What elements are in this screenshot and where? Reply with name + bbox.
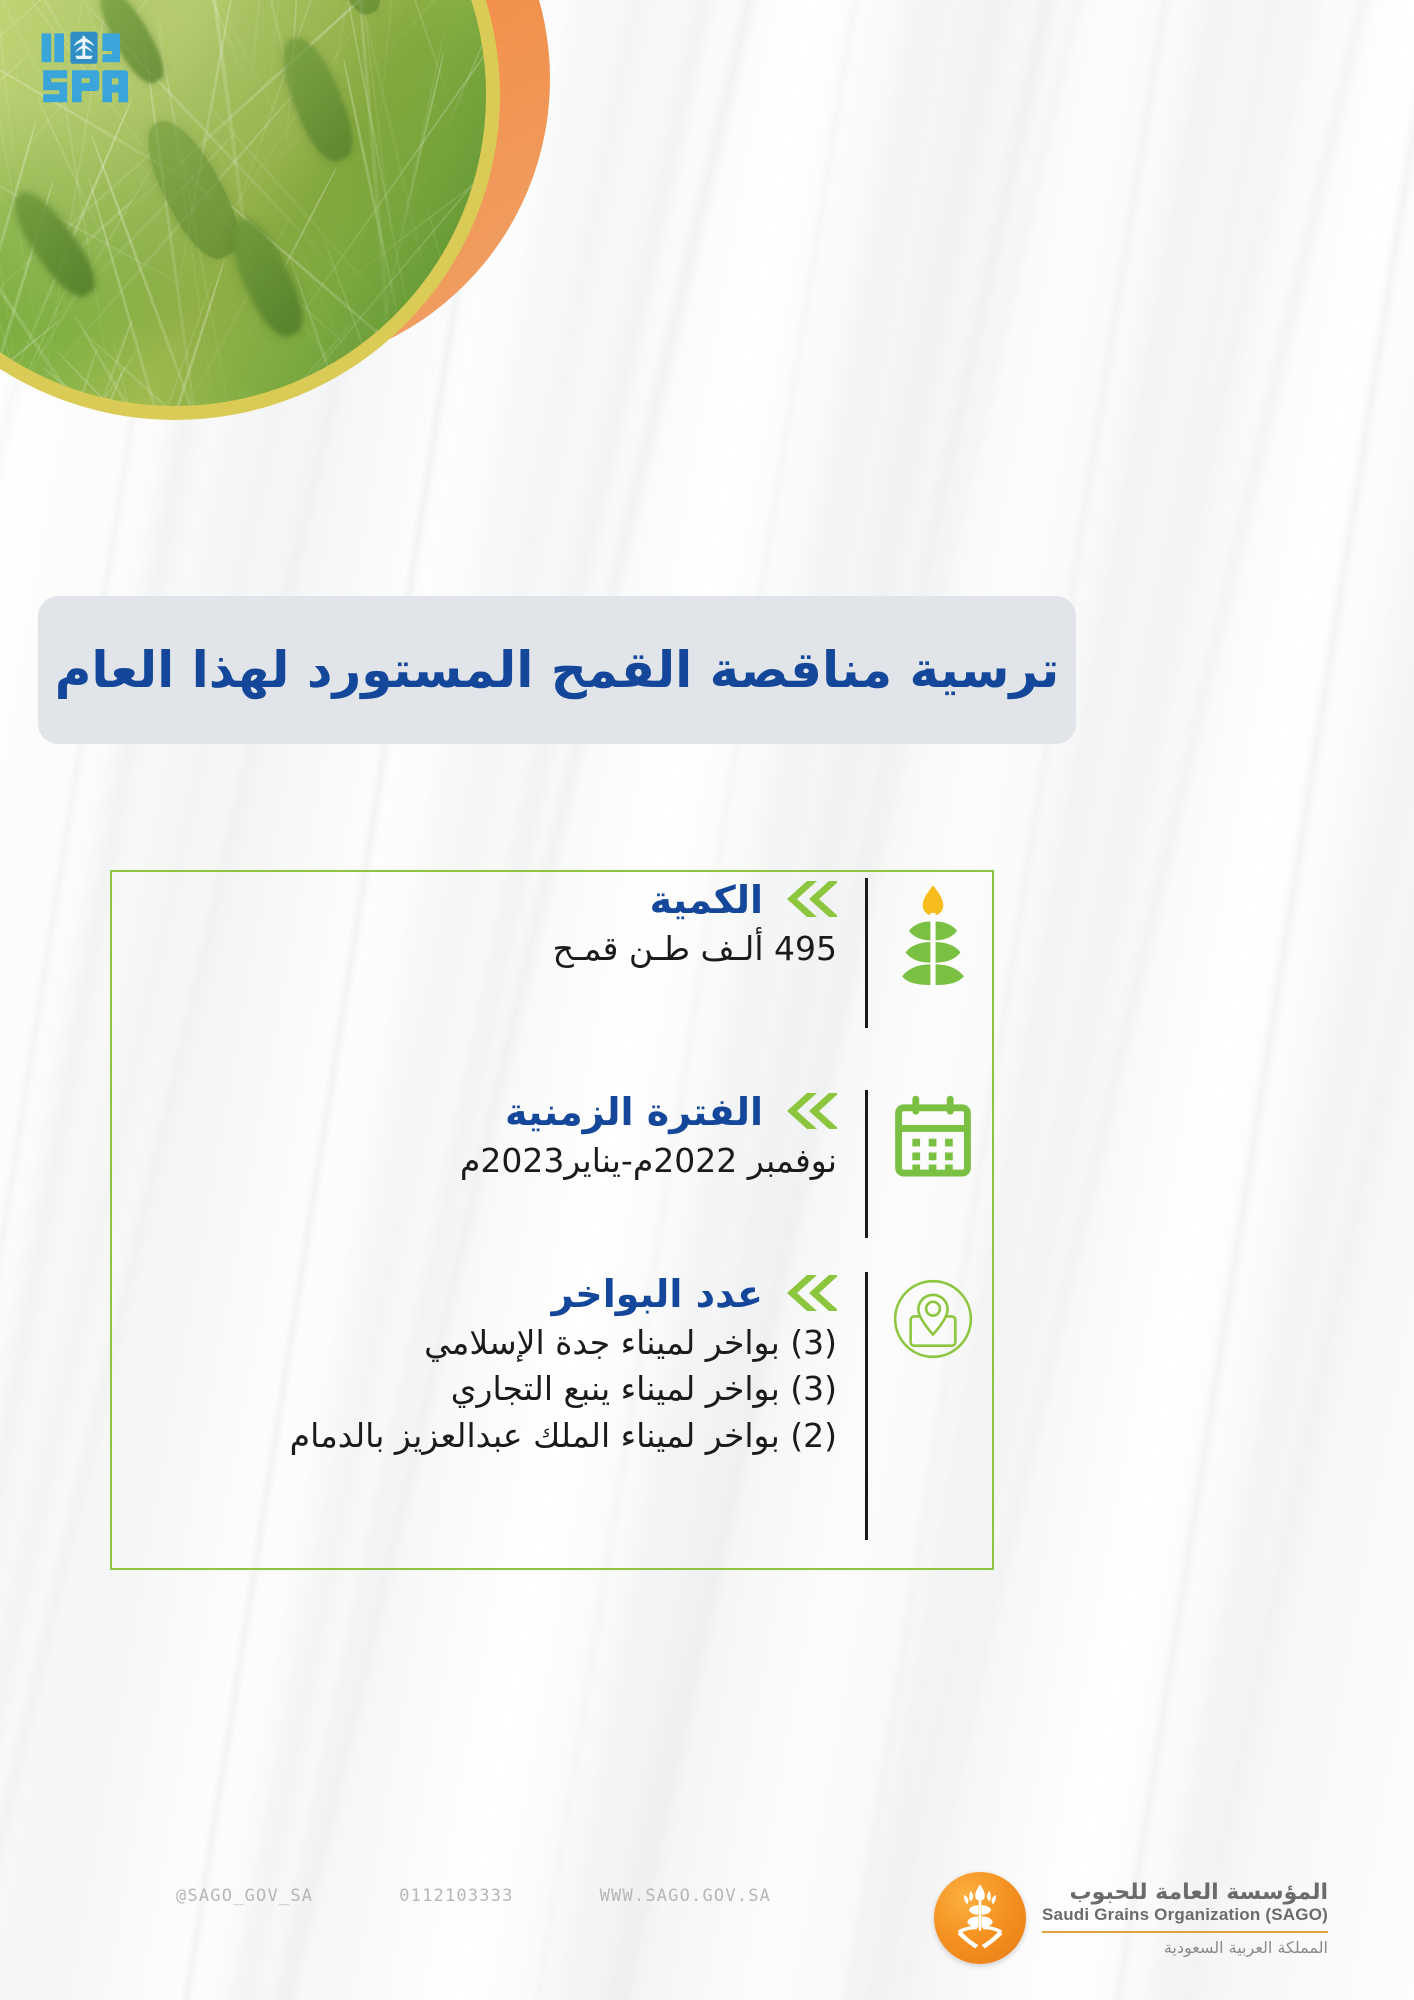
row-line: (3) بواخر لميناء جدة الإسلامي: [211, 1320, 837, 1367]
row-line: (3) بواخر لميناء ينبع التجاري: [211, 1366, 837, 1413]
calendar-icon: [874, 1090, 992, 1180]
title-banner: ترسية مناقصة القمح المستورد لهذا العام: [38, 596, 1076, 744]
poster-canvas: ترسية مناقصة القمح المستورد لهذا العام: [0, 0, 1414, 2000]
row-line: (2) بواخر لميناء الملك عبدالعزيز بالدمام: [211, 1413, 837, 1460]
social-handle[interactable]: @SAGO_GOV_SA: [176, 1886, 313, 1906]
website-url[interactable]: WWW.SAGO.GOV.SA: [600, 1886, 772, 1906]
details-card: الكمية 495 ألـف طـن قمـح: [110, 870, 994, 1570]
page-title: ترسية مناقصة القمح المستورد لهذا العام: [21, 639, 1094, 702]
spa-logo: [40, 28, 128, 106]
row-line: 495 ألـف طـن قمـح: [211, 926, 837, 973]
row-title: الكمية: [650, 878, 763, 924]
detail-row-period: الفترة الزمنية نوفمبر 2022م-يناير2023م: [108, 1090, 992, 1270]
logo-divider: [1042, 1931, 1328, 1933]
chevron-double-left-icon: [777, 1091, 837, 1135]
org-name-ar: المؤسسة العامة للحبوب: [1042, 1880, 1328, 1905]
sago-emblem-icon: [934, 1872, 1026, 1964]
row-title: الفترة الزمنية: [505, 1090, 763, 1136]
row-divider: [865, 1090, 868, 1238]
detail-row-quantity: الكمية 495 ألـف طـن قمـح: [108, 878, 992, 1066]
row-heading: الفترة الزمنية: [211, 1090, 837, 1136]
org-name-en: Saudi Grains Organization (SAGO): [1042, 1905, 1328, 1925]
row-line: نوفمبر 2022م-يناير2023م: [211, 1138, 837, 1185]
row-divider: [865, 1272, 868, 1540]
row-heading: الكمية: [211, 878, 837, 924]
phone-number[interactable]: 0112103333: [399, 1886, 513, 1906]
detail-row-vessels: عدد البواخر (3) بواخر لميناء جدة الإسلام…: [108, 1272, 992, 1568]
country-name-ar: المملكة العربية السعودية: [1042, 1938, 1328, 1957]
chevron-double-left-icon: [777, 1273, 837, 1317]
footer: @SAGO_GOV_SA 0112103333 WWW.SAGO.GOV.SA …: [0, 1860, 1414, 1980]
row-divider: [865, 878, 868, 1028]
row-heading: عدد البواخر: [211, 1272, 837, 1318]
wheat-icon: [874, 878, 992, 985]
port-location-icon: [874, 1272, 992, 1362]
chevron-double-left-icon: [777, 879, 837, 923]
sago-logo: المؤسسة العامة للحبوب Saudi Grains Organ…: [934, 1872, 1328, 1964]
row-title: عدد البواخر: [552, 1272, 763, 1318]
